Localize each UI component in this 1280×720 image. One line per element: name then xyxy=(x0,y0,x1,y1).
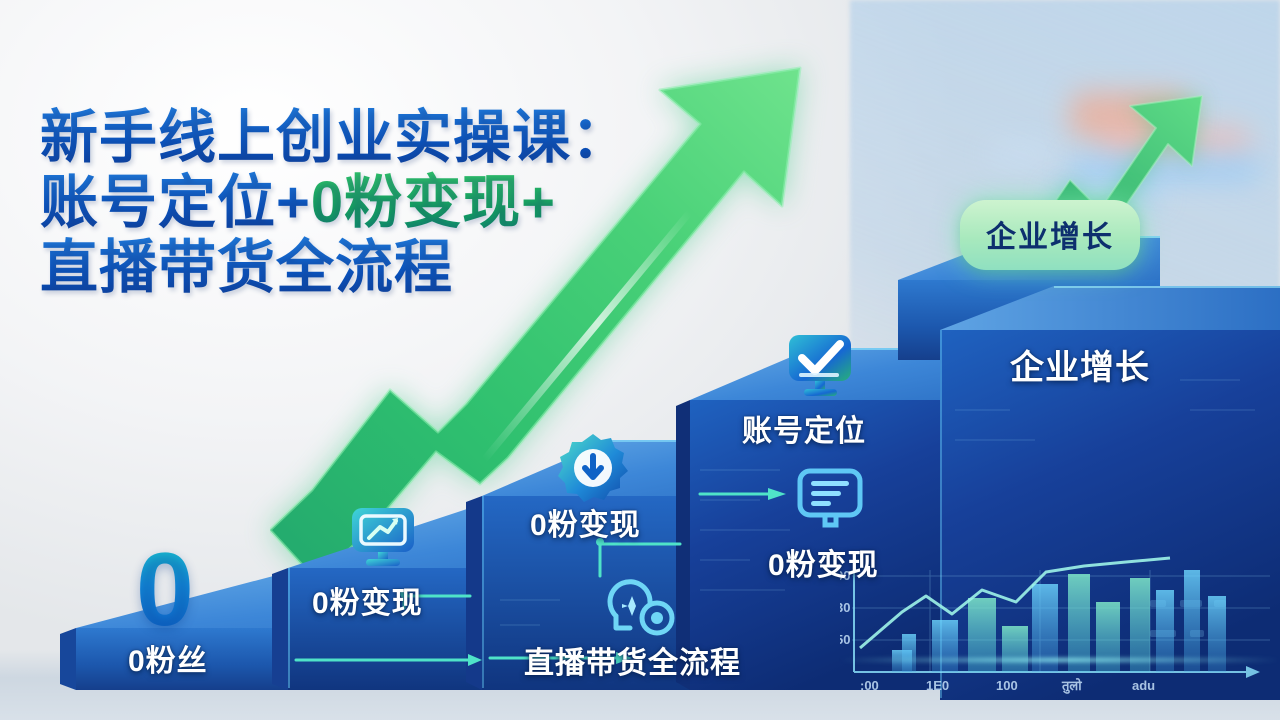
headline-line-3: 直播带货全流程 xyxy=(40,236,630,301)
zero-numeral: 0 xyxy=(136,538,194,642)
pin-camera-icon xyxy=(604,572,678,642)
monitor-chart-icon xyxy=(348,502,418,572)
headline-line-2-blue: 账号定位+ xyxy=(40,170,311,235)
headline-line-2: 账号定位+0粉变现+ xyxy=(40,171,630,236)
step-label-1-monetize: 0粉变现 xyxy=(312,578,423,622)
headline-line-2-green: 0粉变现+ xyxy=(311,170,556,235)
step-label-3-livestream: 直播带货全流程 xyxy=(524,638,741,682)
step-label-4-positioning: 账号定位 xyxy=(742,406,866,450)
monitor-check-icon xyxy=(786,330,856,404)
poster-canvas: 新手线上创业实操课： 账号定位+0粉变现+ 直播带货全流程 xyxy=(0,0,1280,720)
enterprise-growth-badge: 企业增长 xyxy=(960,200,1140,270)
document-lines-icon xyxy=(794,466,868,538)
headline-line-1: 新手线上创业实操课： xyxy=(40,106,630,171)
gear-download-icon xyxy=(556,432,630,506)
poster-headline: 新手线上创业实操课： 账号定位+0粉变现+ 直播带货全流程 xyxy=(40,106,630,301)
step-label-5-monetize: 0粉变现 xyxy=(768,540,879,584)
step-label-2-monetize: 0粉变现 xyxy=(530,500,641,544)
step-label-6-growth: 企业增长 xyxy=(1010,340,1150,389)
step-label-0-fans: 0粉丝 xyxy=(128,636,208,680)
